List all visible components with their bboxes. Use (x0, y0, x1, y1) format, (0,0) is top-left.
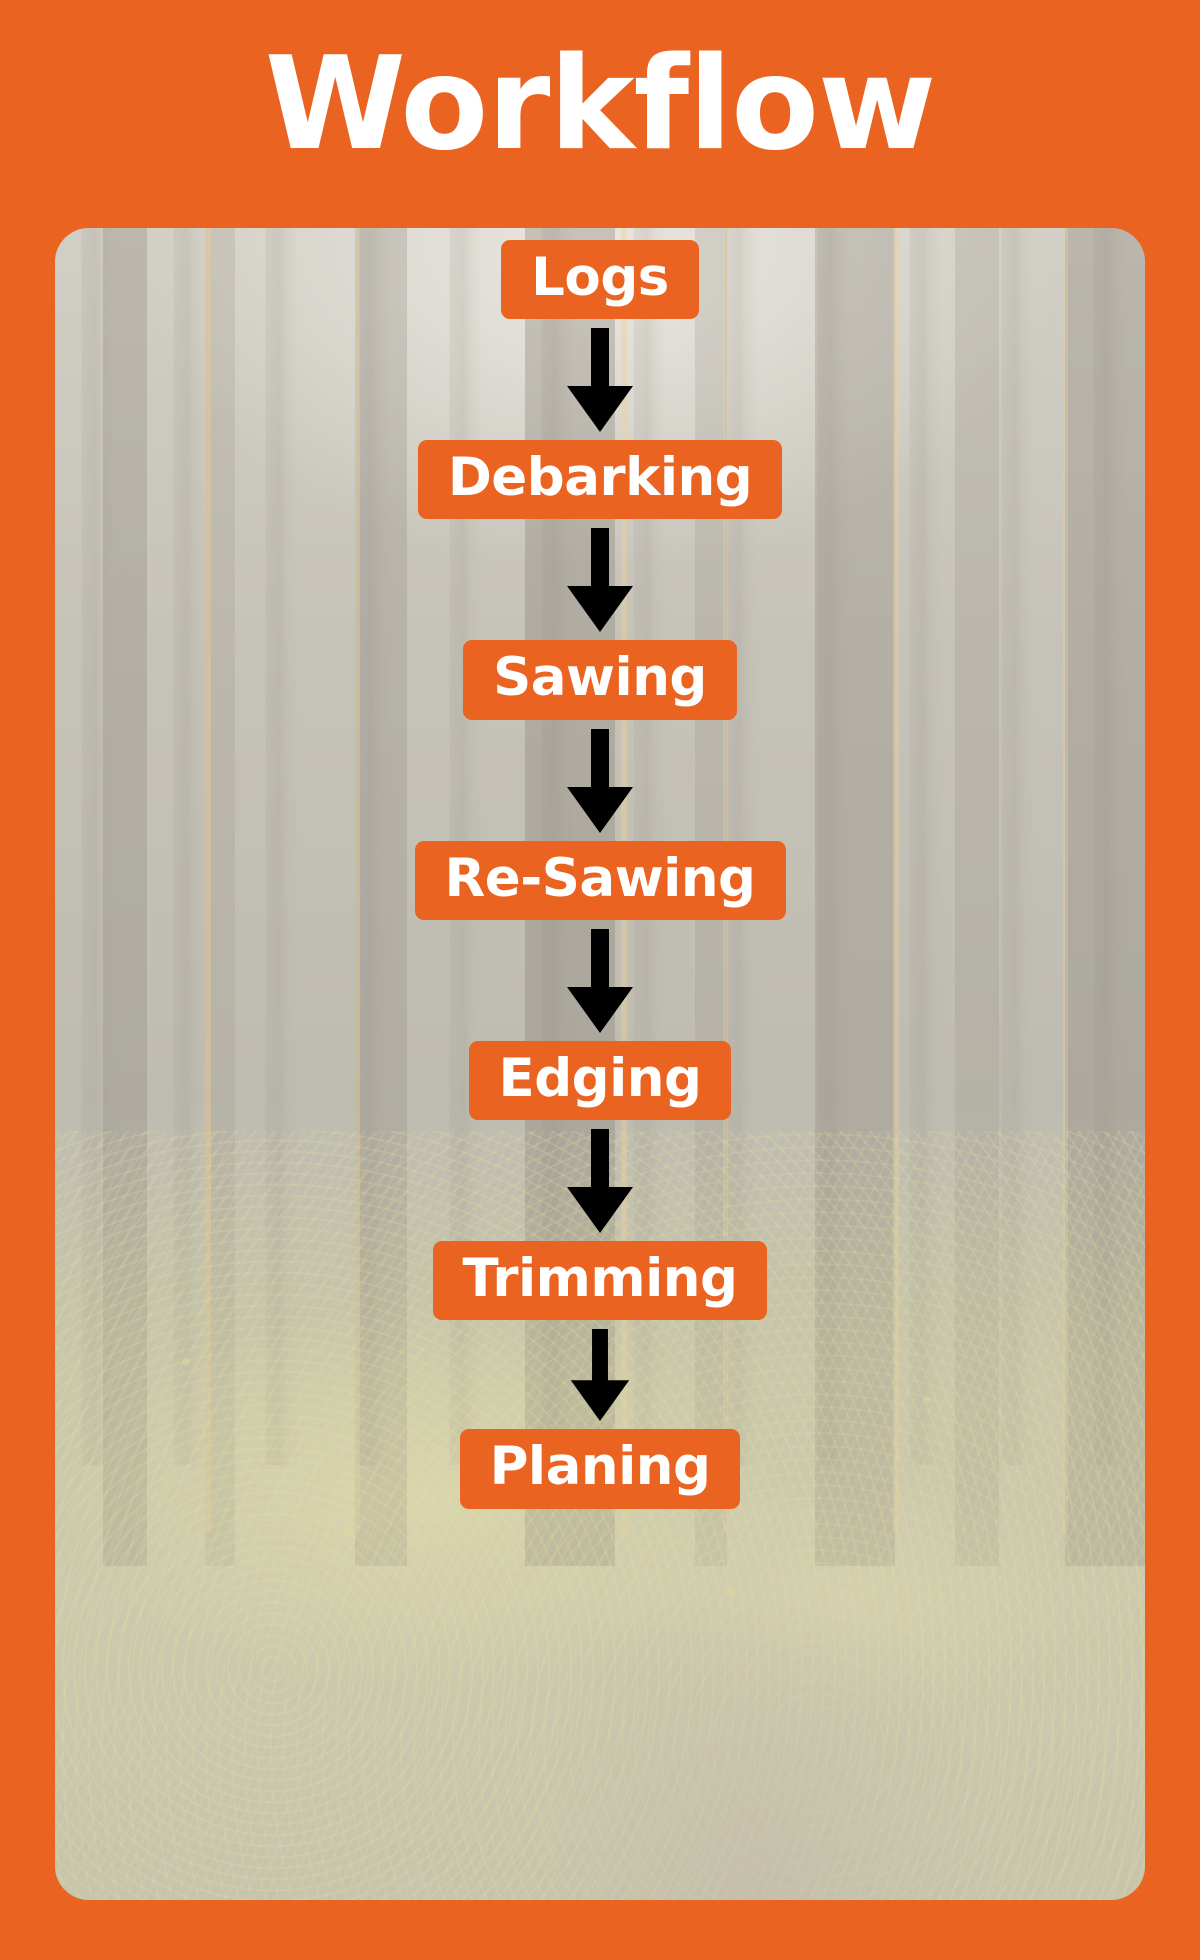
down-arrow-icon-5 (561, 1129, 639, 1233)
workflow-step-logs[interactable]: Logs (501, 240, 699, 319)
workflow-step-planing[interactable]: Planing (460, 1429, 741, 1508)
workflow-step-sawing[interactable]: Sawing (463, 640, 737, 719)
workflow-step-re-sawing[interactable]: Re-Sawing (415, 841, 786, 920)
workflow-step-trimming[interactable]: Trimming (433, 1241, 768, 1320)
workflow-step-edging[interactable]: Edging (469, 1041, 732, 1120)
workflow-poster: Workflow Logs Debarking Sawing Re-S (0, 0, 1200, 1960)
down-arrow-icon-4 (561, 929, 639, 1033)
down-arrow-icon-3 (561, 729, 639, 833)
page-title: Workflow (265, 41, 936, 169)
down-arrow-icon-2 (561, 528, 639, 632)
poster-header: Workflow (0, 0, 1200, 218)
down-arrow-icon-1 (561, 328, 639, 432)
down-arrow-icon-6 (565, 1329, 635, 1421)
workflow-steps-list: Logs Debarking Sawing Re-Sawing Edging T… (55, 228, 1145, 1900)
flowchart-card: Logs Debarking Sawing Re-Sawing Edging T… (55, 228, 1145, 1900)
workflow-step-debarking[interactable]: Debarking (418, 440, 782, 519)
